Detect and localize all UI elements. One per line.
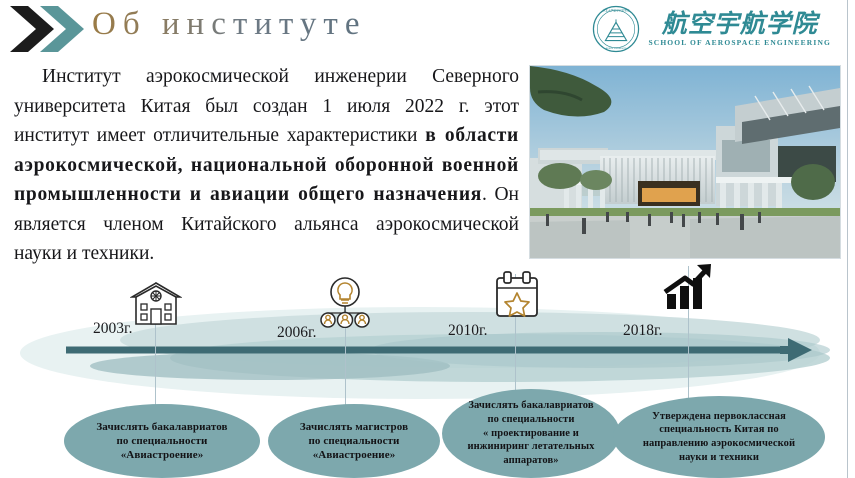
slide-canvas: Об институте 中北大学航空宇航学院 NORTH UNIVERSITY… bbox=[0, 0, 848, 478]
svg-text:NORTH UNIVERSITY: NORTH UNIVERSITY bbox=[606, 48, 627, 50]
calendar-star-icon bbox=[492, 270, 542, 327]
timeline-year-2003: 2003г. bbox=[93, 320, 132, 338]
logo-chinese-name: 航空宇航学院 bbox=[662, 11, 818, 36]
svg-text:中北大学航空宇航学院: 中北大学航空宇航学院 bbox=[603, 9, 630, 13]
campus-building-photo bbox=[530, 66, 840, 258]
logo-text-block: 航空宇航学院 SCHOOL OF AEROSPACE ENGINEERING bbox=[648, 11, 831, 47]
bubble-line: направлению аэрокосмической bbox=[643, 438, 795, 449]
bubble-line: по специальности bbox=[116, 435, 207, 447]
bubble-line: « проектирование и bbox=[483, 428, 579, 439]
bubble-line: Зачислять бакалавриатов bbox=[96, 421, 227, 433]
timeline-year-2010: 2010г. bbox=[448, 322, 487, 340]
milestone-bubble-2010[interactable]: Зачислять бакалавриатов по специальности… bbox=[442, 389, 620, 478]
school-logo: 中北大学航空宇航学院 NORTH UNIVERSITY 航空宇航学院 SCHOO… bbox=[592, 4, 831, 54]
bubble-line: инжиниринг летательных bbox=[468, 441, 595, 452]
timeline: 2003г. 2006г. 2010г. 2018г. Зачислять ба… bbox=[0, 258, 847, 478]
bubble-line: «Авиастроение» bbox=[121, 449, 204, 461]
university-seal-icon: 中北大学航空宇航学院 NORTH UNIVERSITY bbox=[592, 5, 640, 53]
school-building-icon bbox=[130, 280, 182, 333]
milestone-bubble-2003[interactable]: Зачислять бакалавриатов по специальности… bbox=[64, 404, 260, 478]
double-chevron-right-icon bbox=[6, 4, 88, 54]
bubble-line: по специальности bbox=[308, 435, 399, 447]
bubble-line: «Авиастроение» bbox=[313, 449, 396, 461]
timeline-year-2018: 2018г. bbox=[623, 322, 662, 340]
bubble-line: по специальности bbox=[488, 414, 575, 425]
logo-english-name: SCHOOL OF AEROSPACE ENGINEERING bbox=[648, 39, 831, 47]
timeline-year-2006: 2006г. bbox=[277, 324, 316, 342]
milestone-bubble-2018[interactable]: Утверждена первоклассная специальность К… bbox=[613, 396, 825, 478]
bubble-line: Утверждена первоклассная bbox=[652, 411, 786, 422]
bubble-line: специальность Китая по bbox=[659, 424, 779, 435]
bubble-line: Зачислять бакалавриатов bbox=[468, 400, 593, 411]
bubble-line: науки и техники bbox=[679, 452, 759, 463]
about-paragraph: Институт аэрокосмической инженерии Север… bbox=[14, 62, 519, 269]
bubble-line: Зачислять магистров bbox=[300, 421, 408, 433]
slide-header: Об институте bbox=[0, 0, 560, 58]
page-title: Об институте bbox=[92, 6, 366, 43]
growth-chart-icon bbox=[663, 262, 715, 317]
lightbulb-team-icon bbox=[316, 276, 374, 333]
milestone-bubble-2006[interactable]: Зачислять магистров по специальности «Ав… bbox=[268, 404, 440, 478]
bubble-line: аппаратов» bbox=[503, 455, 558, 466]
